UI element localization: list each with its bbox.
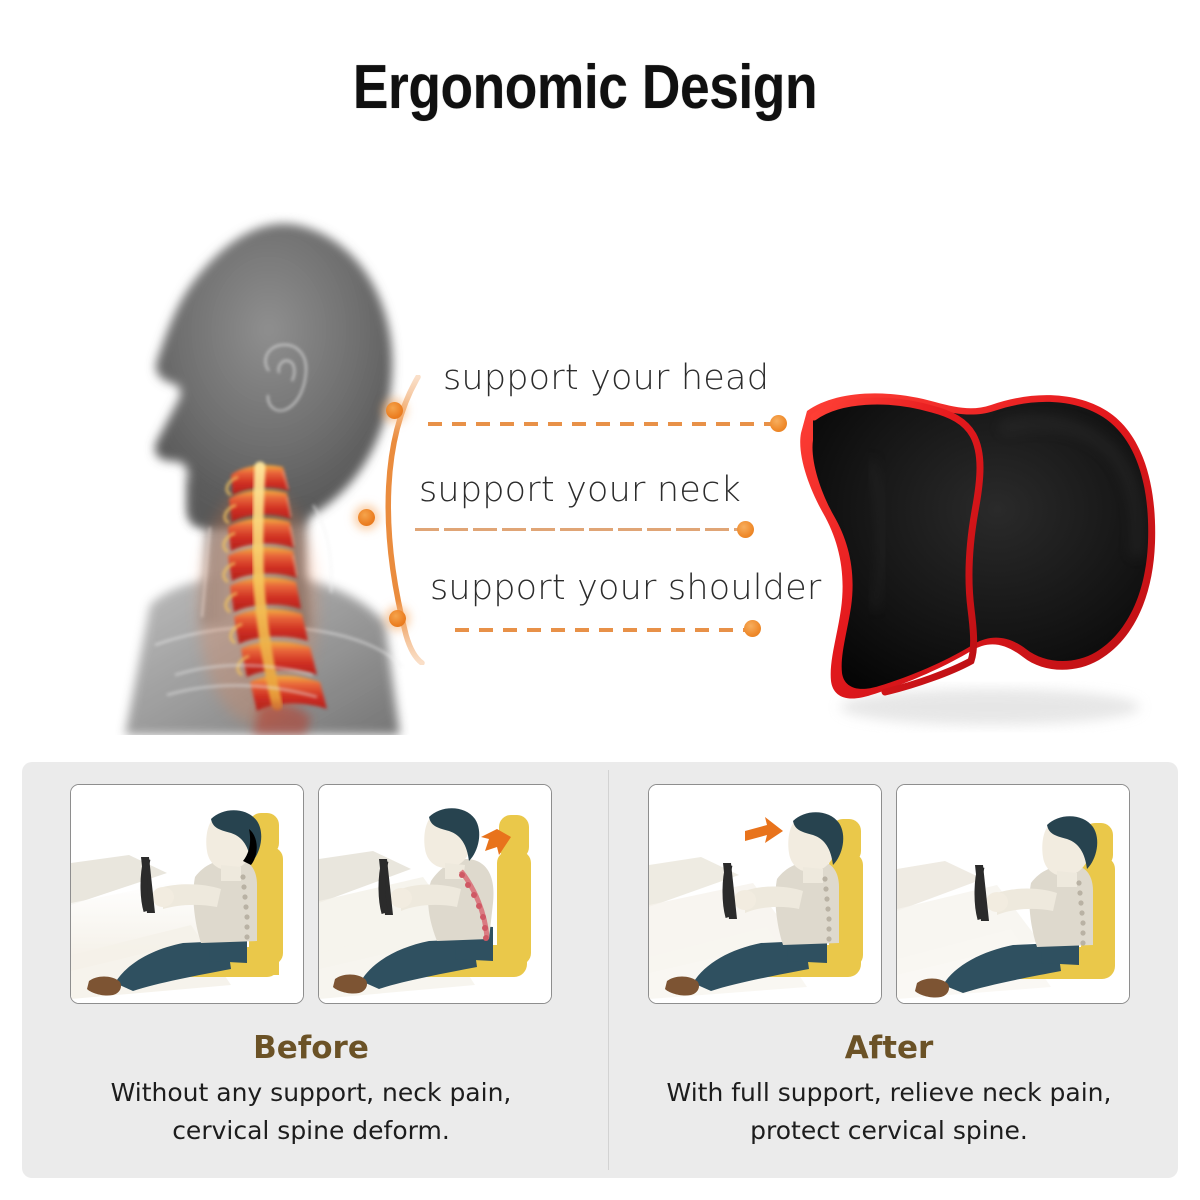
thumbnail-driver-neutral[interactable] [70,784,304,1004]
after-heading: After [600,1030,1178,1066]
before-desc-line2: cervical spine deform. [22,1112,600,1150]
after-description: With full support, relieve neck pain, pr… [600,1074,1178,1150]
callout-head-label: support your head [443,358,769,398]
before-after-comparison-panel: Before Without any support, neck pain, c… [22,762,1178,1178]
thumbnail-driver-slouched[interactable] [318,784,552,1004]
thumbnail-driver-supported-relaxed[interactable] [896,784,1130,1004]
before-heading: Before [22,1030,600,1066]
before-desc-line1: Without any support, neck pain, [22,1074,600,1112]
after-desc-line2: protect cervical spine. [600,1112,1178,1150]
callout-neck-label: support your neck [419,470,741,510]
callout-neck-dashline [415,528,740,531]
callout-shoulder-dot-left [389,610,406,627]
callout-shoulder-label: support your shoulder [430,568,821,608]
callout-neck-dot-right [737,521,754,538]
callout-shoulder-dashline [455,628,750,632]
before-description: Without any support, neck pain, cervical… [22,1074,600,1150]
callout-head-dot-left [386,402,403,419]
thumbnail-driver-supported-upright[interactable] [648,784,882,1004]
comparison-after-half: After With full support, relieve neck pa… [600,762,1178,1178]
callout-head-dashline [428,422,776,426]
product-pillow-image [775,355,1195,735]
hero-section: support your head support your neck supp… [0,150,1200,750]
callout-neck-dot-left [358,509,375,526]
after-thumbnail-row [600,784,1178,1004]
after-desc-line1: With full support, relieve neck pain, [600,1074,1178,1112]
page-title: Ergonomic Design [82,52,1088,123]
comparison-before-half: Before Without any support, neck pain, c… [22,762,600,1178]
before-thumbnail-row [22,784,600,1004]
callout-shoulder-dot-right [744,620,761,637]
